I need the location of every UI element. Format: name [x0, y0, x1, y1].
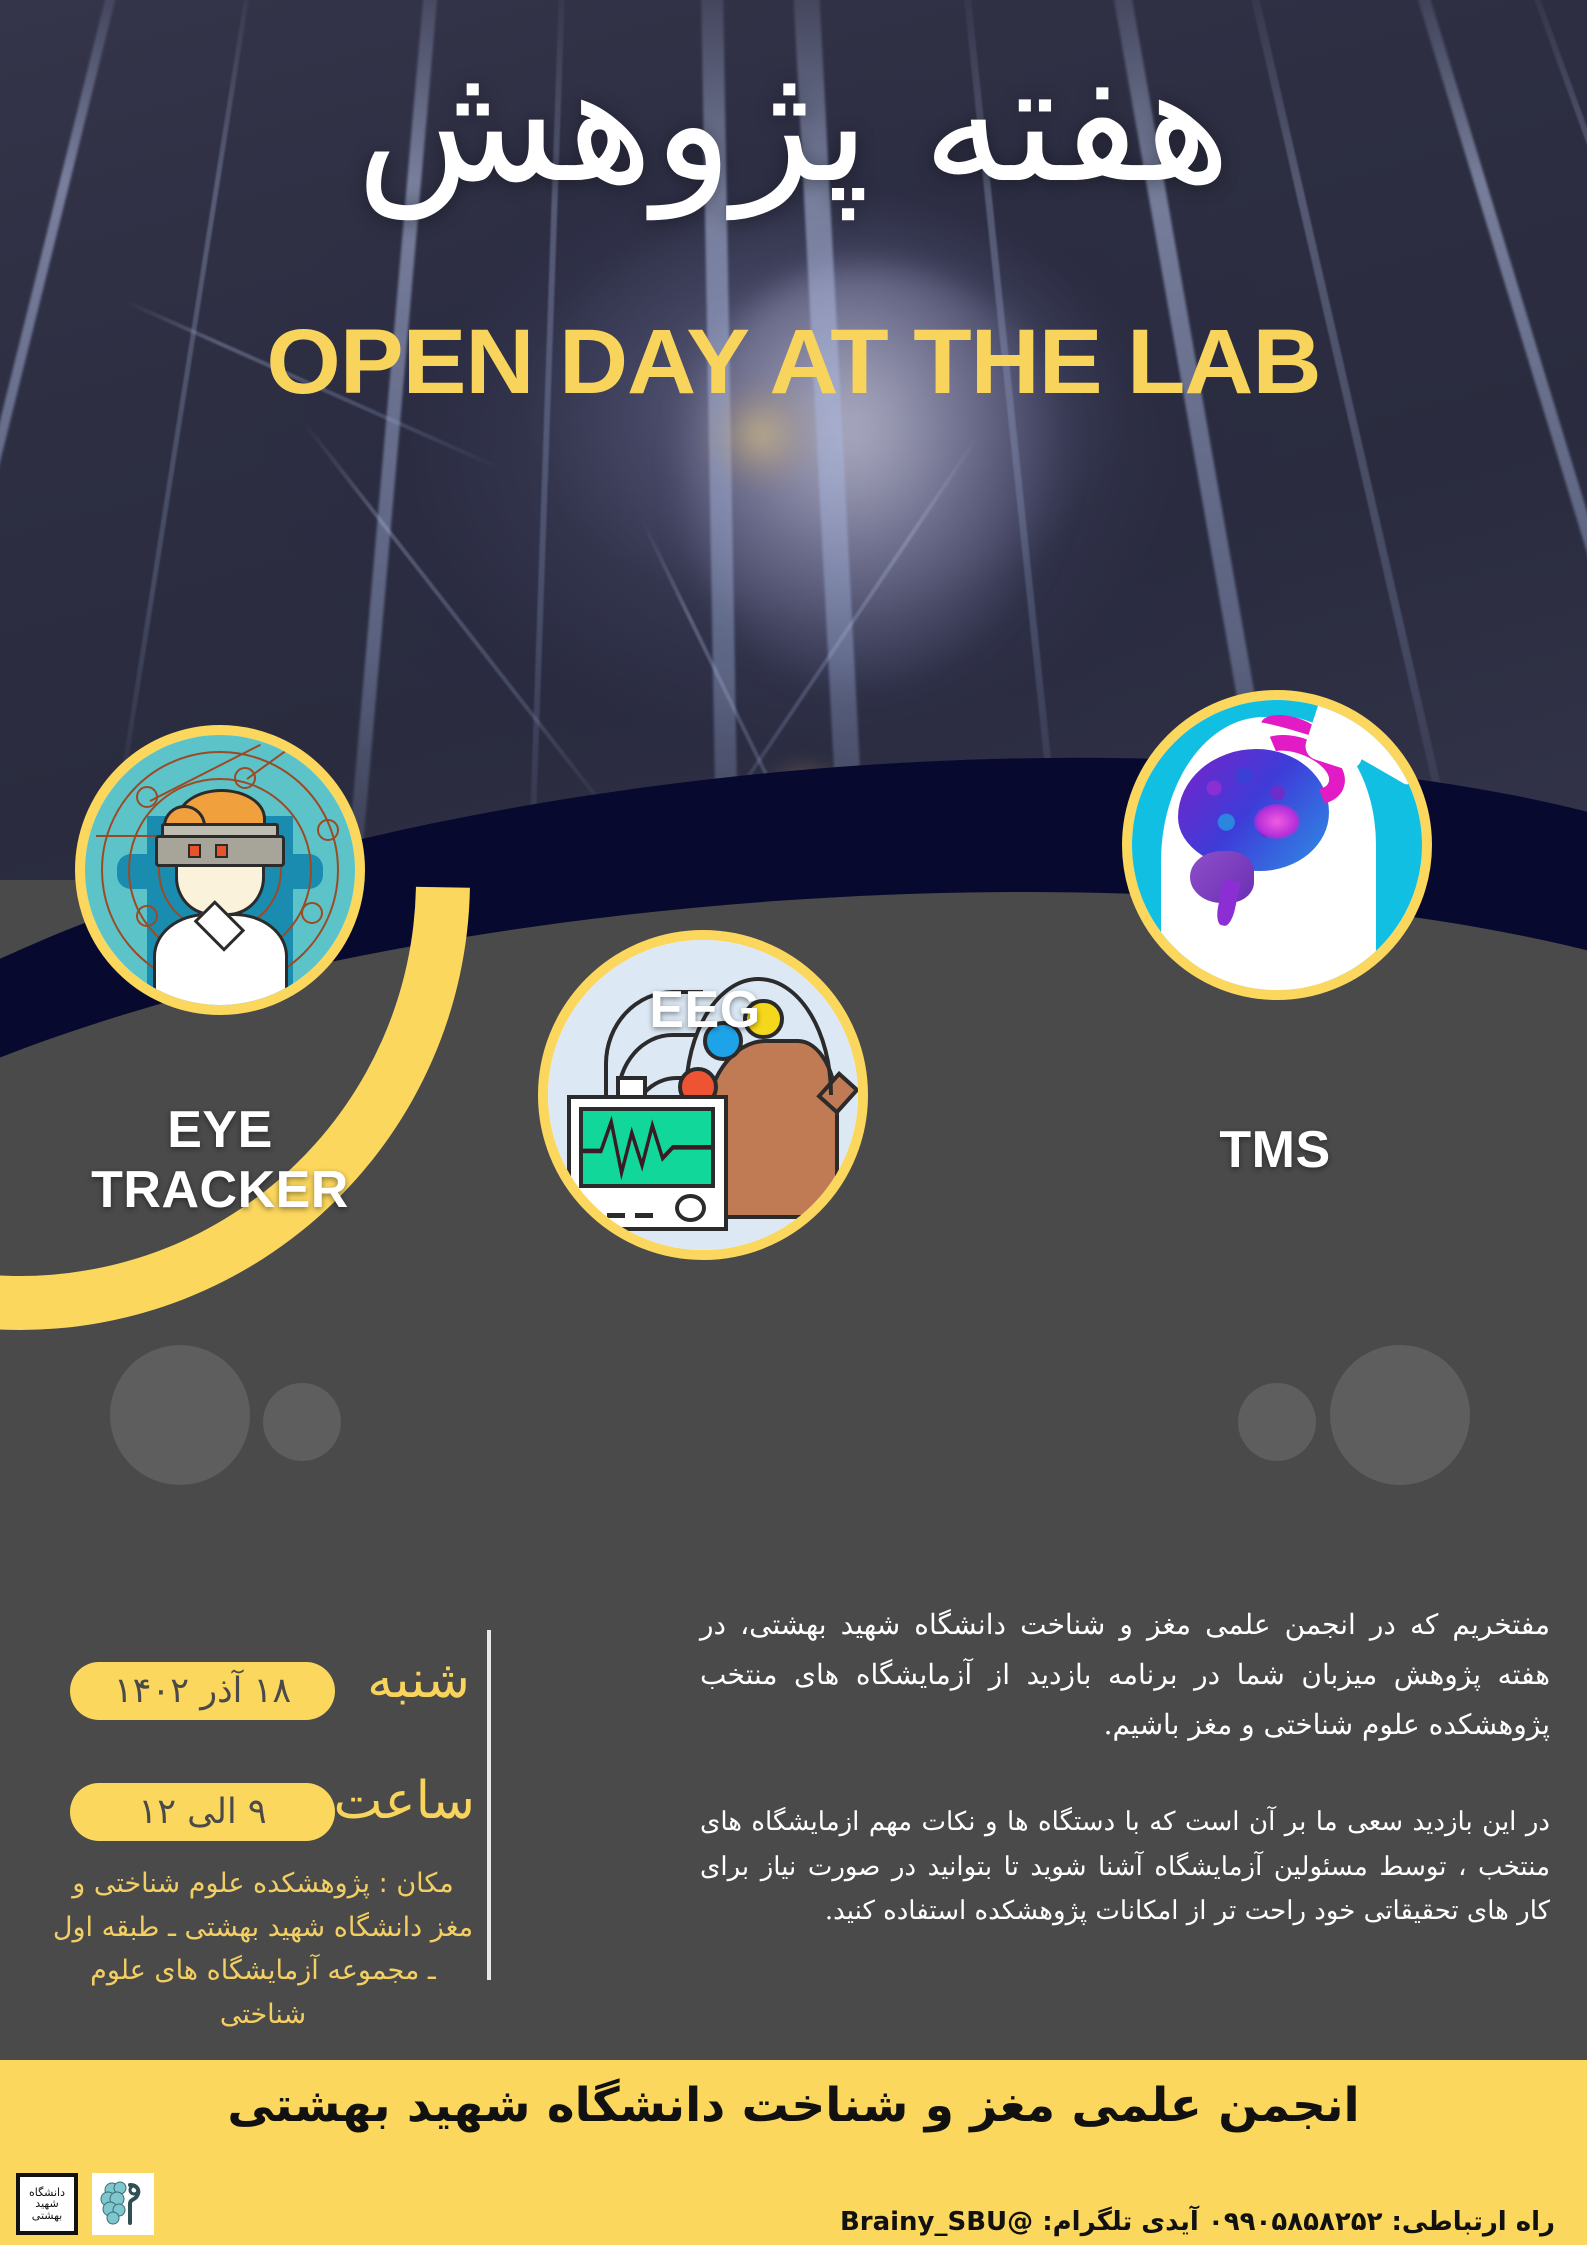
tms-icon: [1132, 700, 1422, 990]
contact-info: راه ارتباطی: ۰۹۹۰۵۸۵۸۲۵۲ آیدی تلگرام: @B…: [840, 2207, 1555, 2237]
modality-circle-tms[interactable]: [1122, 690, 1432, 1000]
monitor-vent: [607, 1213, 626, 1218]
radar-node: [317, 819, 339, 841]
organization-name: انجمن علمی مغز و شناخت دانشگاه شهید بهشت…: [0, 2078, 1587, 2133]
footer-bar: انجمن علمی مغز و شناخت دانشگاه شهید بهشت…: [0, 2060, 1587, 2245]
monitor-knob: [675, 1194, 706, 1222]
brain-logo-icon: [96, 2177, 150, 2231]
page-title-english: OPEN DAY AT THE LAB: [0, 310, 1587, 415]
location-text: مکان : پژوهشکده علوم شناختی و مغز دانشگا…: [48, 1862, 478, 2037]
time-pill: ۹ الی ۱۲: [70, 1783, 335, 1841]
modality-label-tms: TMS: [1110, 1120, 1440, 1180]
modality-circle-eye-tracker[interactable]: [75, 725, 365, 1015]
page-title-persian: هفته پژوهش: [0, 18, 1587, 229]
university-logo-label: دانشگاه شهید بهشتی: [20, 2187, 74, 2222]
description-paragraph-2: در این بازدید سعی ما بر آن است که با دست…: [700, 1800, 1550, 1934]
decorative-circle: [263, 1383, 341, 1461]
eye-tracker-icon: [85, 735, 355, 1005]
eeg-screen: [579, 1107, 715, 1188]
decorative-circle: [110, 1345, 250, 1485]
time-value: ۹ الی ۱۲: [138, 1792, 266, 1832]
date-value: ۱۸ آذر ۱۴۰۲: [114, 1671, 291, 1711]
vertical-divider: [487, 1630, 491, 1980]
date-pill: ۱۸ آذر ۱۴۰۲: [70, 1662, 335, 1720]
radar-node: [234, 767, 256, 789]
time-caption: ساعت: [340, 1771, 475, 1831]
eeg-waveform-icon: [583, 1111, 711, 1184]
university-logo: دانشگاه شهید بهشتی: [16, 2173, 78, 2235]
modality-label-eye-tracker: EYE TRACKER: [40, 1100, 400, 1220]
modality-label-eeg: EEG: [520, 980, 890, 1040]
monitor-vent: [635, 1213, 654, 1218]
monitor-vent: [579, 1213, 598, 1218]
decorative-circle: [1330, 1345, 1470, 1485]
description-paragraph-1: مفتخریم که در انجمن علمی مغز و شناخت دان…: [700, 1600, 1550, 1749]
stimulation-glow: [1254, 804, 1300, 839]
tracker-led: [188, 844, 202, 858]
decorative-circle: [1238, 1383, 1316, 1461]
day-caption: شنبه: [340, 1650, 470, 1710]
association-logo: [92, 2173, 154, 2235]
neck-shape: [1190, 926, 1323, 990]
poster-root: هفته پژوهش OPEN DAY AT THE LAB: [0, 0, 1587, 2245]
tracker-led: [215, 844, 229, 858]
